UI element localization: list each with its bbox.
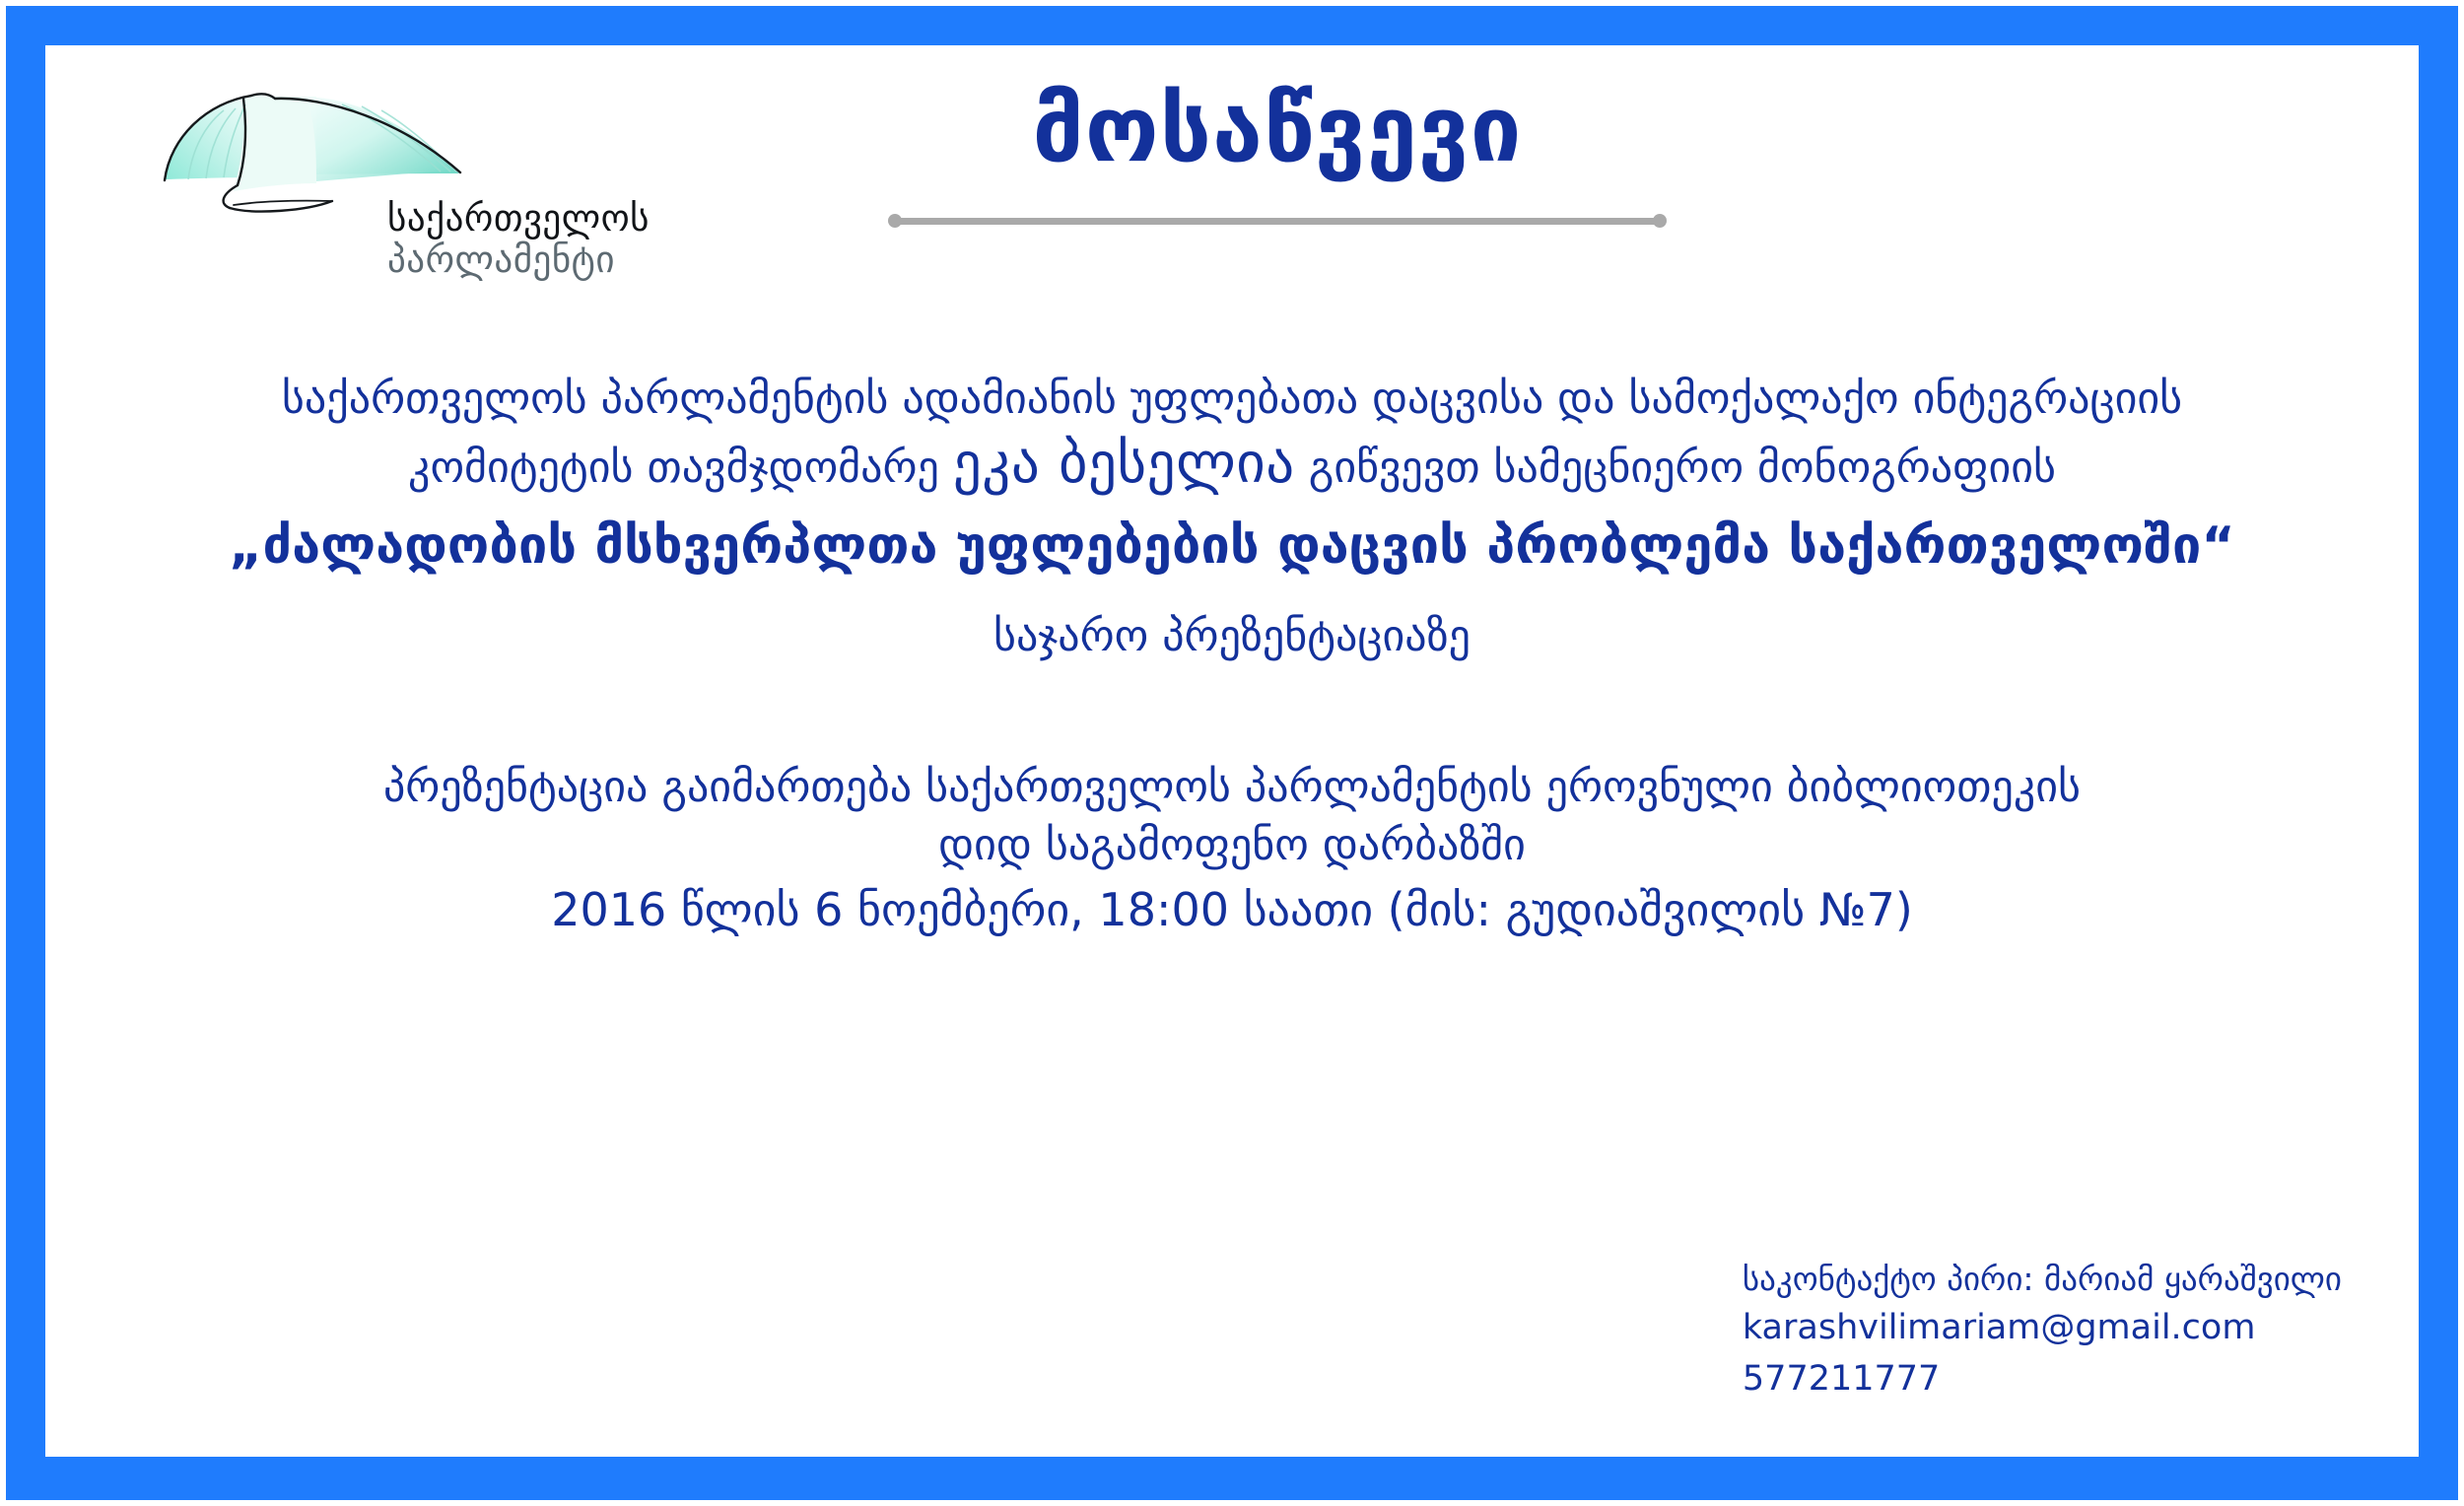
contact-person: საკონტაქტო პირი: მარიამ ყარაშვილი	[1743, 1256, 2342, 1304]
speaker-name: ეკა ბესელია	[953, 431, 1295, 496]
intro-text-after-name: გიწვევთ სამეცნიერო მონოგრაფიის	[1309, 443, 2056, 493]
contact-block: საკონტაქტო პირი: მარიამ ყარაშვილი karash…	[1743, 1256, 2342, 1405]
divider-bar	[895, 218, 1660, 225]
title-divider	[888, 214, 1667, 228]
poster-header: საქართველოს პარლამენტი მოსაწვევი	[45, 45, 2419, 371]
page-title: მოსაწვევი	[814, 79, 1741, 180]
divider-dot-right	[1653, 214, 1667, 228]
poster-body: საქართველოს პარლამენტის ადამიანის უფლება…	[45, 371, 2419, 940]
parliament-logo: საქართველოს პარლამენტი	[159, 83, 711, 295]
venue-paragraph: პრეზენტაცია გაიმართება საქართველოს პარლა…	[45, 759, 2419, 875]
venue-line-2: დიდ საგამოფენო დარბაზში	[45, 817, 2419, 875]
logo-wordmark-line2: პარლამენტი	[387, 240, 713, 280]
monograph-title: „ძალადობის მსხვერპლთა უფლებების დაცვის პ…	[45, 513, 2419, 581]
intro-line-2: კომიტეტის თავმჯდომარე ეკა ბესელია გიწვევ…	[104, 427, 2360, 500]
poster-sheet: საქართველოს პარლამენტი მოსაწვევი	[45, 45, 2419, 1457]
blue-border-frame: საქართველოს პარლამენტი მოსაწვევი	[6, 6, 2458, 1500]
venue-line-1: პრეზენტაცია გაიმართება საქართველოს პარლა…	[45, 759, 2419, 817]
event-datetime: 2016 წლის 6 ნოემბერი, 18:00 საათი (მის: …	[45, 881, 2419, 940]
contact-email[interactable]: karashvilimariam@gmail.com	[1743, 1303, 2342, 1354]
title-block: მოსაწვევი	[814, 79, 1741, 228]
logo-wordmark-line1: საქართველოს	[387, 199, 713, 239]
intro-paragraph: საქართველოს პარლამენტის ადამიანის უფლება…	[45, 371, 2419, 500]
intro-line-1: საქართველოს პარლამენტის ადამიანის უფლება…	[104, 371, 2360, 427]
intro-text-before-name: კომიტეტის თავმჯდომარე	[408, 443, 939, 493]
contact-phone[interactable]: 577211777	[1743, 1354, 2342, 1405]
invitation-poster: საქართველოს პარლამენტი მოსაწვევი	[0, 0, 2464, 1506]
event-type: საჯარო პრეზენტაციაზე	[45, 608, 2419, 664]
logo-wordmark: საქართველოს პარლამენტი	[387, 199, 713, 280]
